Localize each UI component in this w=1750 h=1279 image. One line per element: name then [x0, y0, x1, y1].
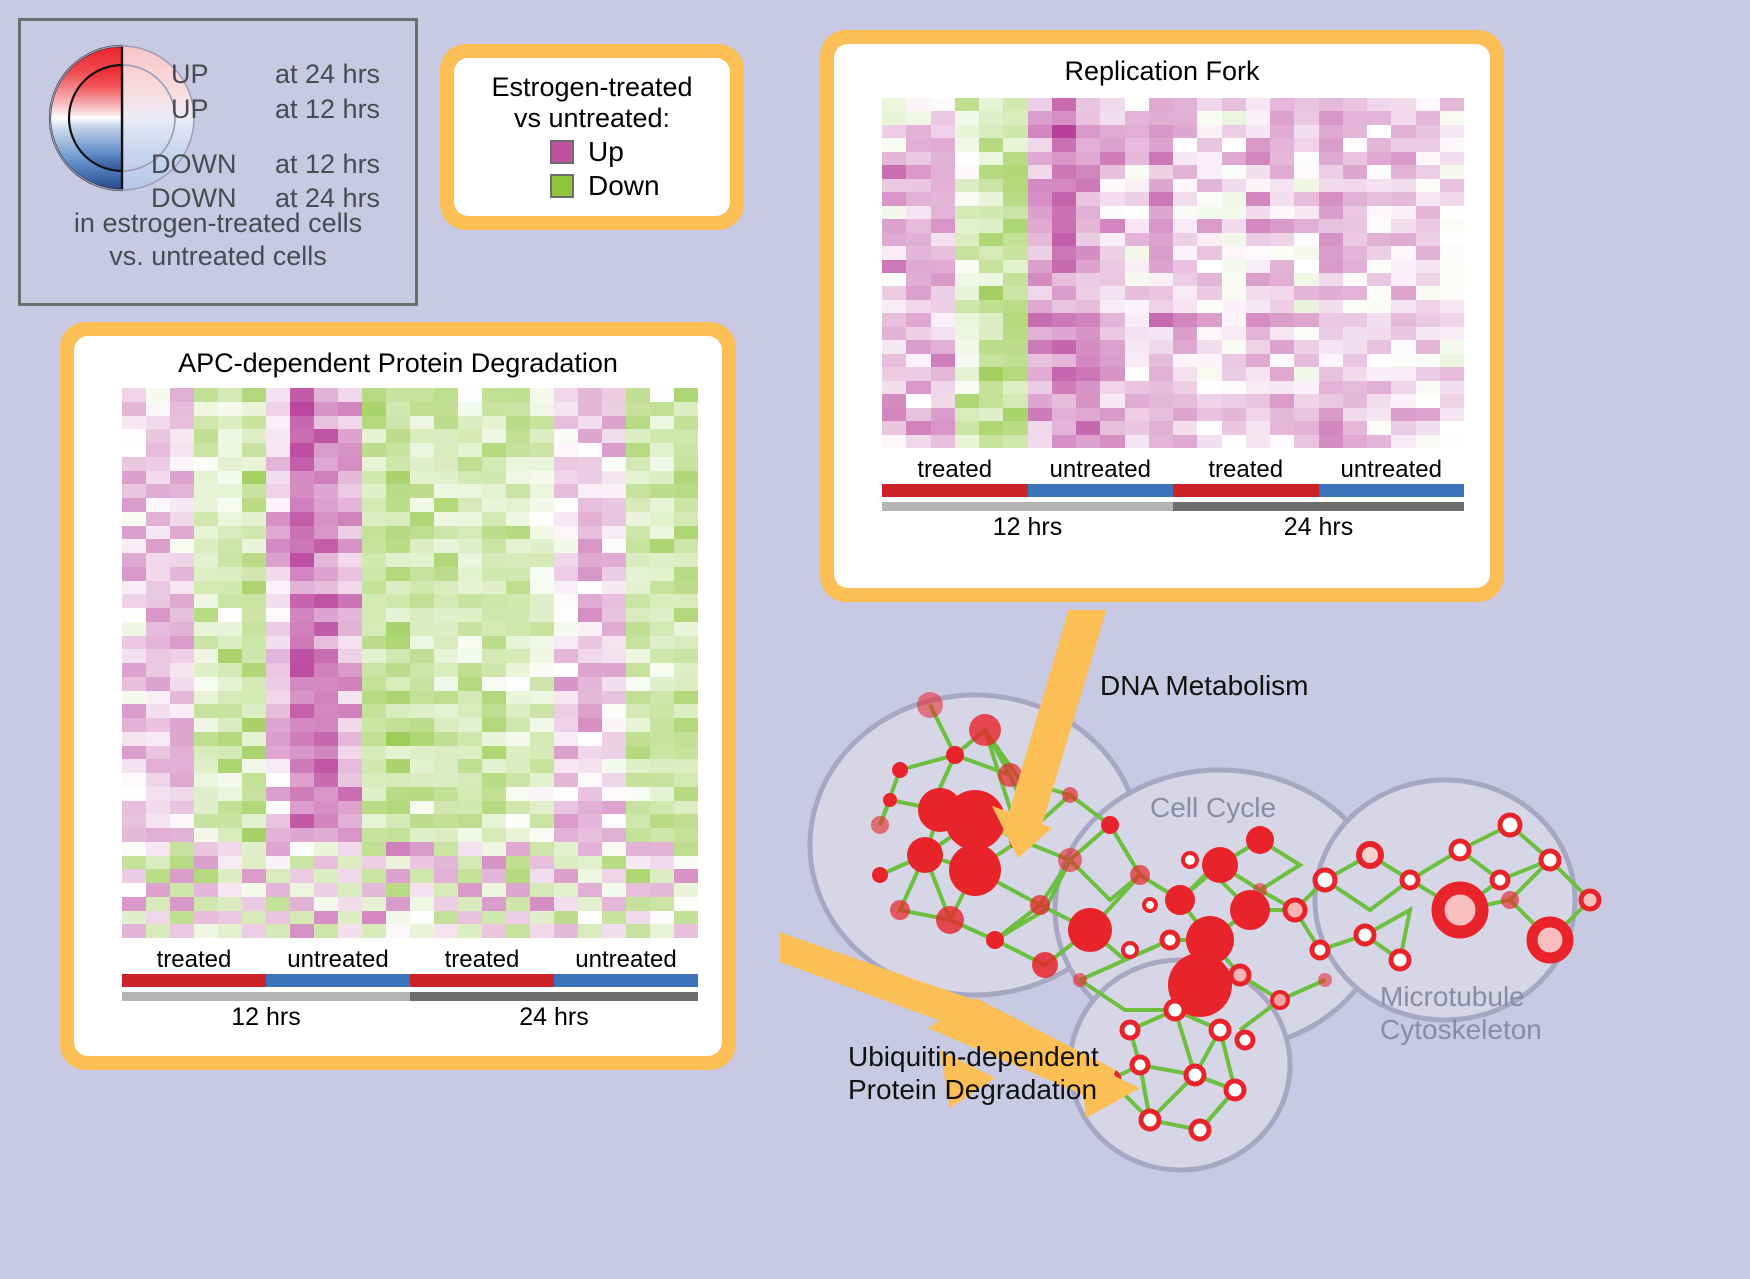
heatmap-cell [290, 801, 314, 815]
heatmap-cell [530, 471, 554, 485]
heatmap-cell [882, 260, 906, 273]
heatmap-cell [290, 924, 314, 938]
heatmap-cell [1003, 260, 1027, 273]
heatmap-cell [1222, 340, 1246, 353]
heatmap-cell [170, 911, 194, 925]
heatmap-cell [194, 718, 218, 732]
heatmap-cell [1197, 381, 1221, 394]
heatmap-cell [906, 354, 930, 367]
heatmap-cell [602, 594, 626, 608]
heatmap-cell [1246, 246, 1270, 259]
heatmap-cell [1076, 354, 1100, 367]
heatmap-cell [1125, 138, 1149, 151]
heatmap-cell [194, 842, 218, 856]
heatmap-cell [650, 429, 674, 443]
heatmap-cell [554, 732, 578, 746]
heatmap-cell [979, 98, 1003, 111]
heatmap-cell [1294, 179, 1318, 192]
heatmap-cell [410, 567, 434, 581]
heatmap-cell [1270, 98, 1294, 111]
heatmap-cell [458, 911, 482, 925]
heatmap-cell [482, 443, 506, 457]
heatmap-cell [1173, 219, 1197, 232]
heatmap-cell [290, 718, 314, 732]
heatmap-cell [194, 732, 218, 746]
heatmap-cell [458, 663, 482, 677]
heatmap-cell [1270, 152, 1294, 165]
heatmap-cell [266, 622, 290, 636]
heatmap-cell [1367, 313, 1391, 326]
heatmap-cell [882, 354, 906, 367]
heatmap-cell [554, 498, 578, 512]
heatmap-cell [1173, 246, 1197, 259]
condition-label: treated [122, 946, 266, 974]
heatmap-cell [170, 718, 194, 732]
heatmap-cell [242, 388, 266, 402]
heatmap-cell [434, 828, 458, 842]
heatmap-cell [386, 704, 410, 718]
heatmap-cell [1173, 394, 1197, 407]
heatmap-cell [882, 340, 906, 353]
heatmap-cell [1343, 300, 1367, 313]
heatmap-cell [482, 484, 506, 498]
heatmap-cell [1440, 394, 1464, 407]
heatmap-cell [1294, 381, 1318, 394]
heatmap-cell [506, 773, 530, 787]
heatmap-cell [554, 814, 578, 828]
heatmap-cell [1052, 125, 1076, 138]
heatmap-cell [482, 512, 506, 526]
heatmap-cell [530, 553, 554, 567]
heatmap-cell [1391, 435, 1415, 448]
heatmap-cell [602, 526, 626, 540]
heatmap-cell [194, 443, 218, 457]
heatmap-cell [1149, 408, 1173, 421]
heatmap-cell [218, 691, 242, 705]
heatmap-cell [434, 429, 458, 443]
heatmap-cell [266, 746, 290, 760]
heatmap-cell [386, 429, 410, 443]
heatmap-cell [218, 443, 242, 457]
heatmap-cell [1052, 381, 1076, 394]
heatmap-cell [1270, 246, 1294, 259]
heatmap-cell [266, 773, 290, 787]
heatmap-cell [530, 787, 554, 801]
heatmap-cell [1391, 260, 1415, 273]
heatmap-cell [506, 897, 530, 911]
heatmap-cell [906, 313, 930, 326]
heatmap-cell [626, 416, 650, 430]
heatmap-cell [1343, 246, 1367, 259]
heatmap-cell [1003, 273, 1027, 286]
heatmap-cell [482, 691, 506, 705]
heatmap-cell [1028, 300, 1052, 313]
heatmap-cell [1076, 300, 1100, 313]
heatmap-cell [1222, 233, 1246, 246]
heatmap-cell [979, 179, 1003, 192]
heatmap-cell [506, 443, 530, 457]
heatmap-cell [554, 691, 578, 705]
heatmap-cell [266, 828, 290, 842]
heatmap-cell [578, 897, 602, 911]
heatmap-cell [1294, 260, 1318, 273]
heatmap-cell [602, 471, 626, 485]
heatmap-cell [1440, 313, 1464, 326]
heatmap-cell [506, 388, 530, 402]
heatmap-cell [1391, 206, 1415, 219]
heatmap-cell [1367, 300, 1391, 313]
heatmap-cell [1100, 394, 1124, 407]
heatmap-cell [290, 814, 314, 828]
heatmap-cell [906, 138, 930, 151]
heatmap-cell [338, 897, 362, 911]
heatmap-cell [1440, 246, 1464, 259]
heatmap-cell [650, 869, 674, 883]
heatmap-cell [931, 125, 955, 138]
heatmap-cell [906, 421, 930, 434]
time-colour-bar [410, 992, 698, 1001]
heatmap-cell [122, 718, 146, 732]
heatmap-cell [482, 801, 506, 815]
heatmap-cell [362, 828, 386, 842]
heatmap-cell [1052, 300, 1076, 313]
heatmap-cell [602, 416, 626, 430]
heatmap-cell [1125, 354, 1149, 367]
heatmap-cell [1440, 206, 1464, 219]
heatmap-cell [1440, 98, 1464, 111]
heatmap-cell [386, 869, 410, 883]
heatmap-cell [674, 897, 698, 911]
heatmap-cell [1100, 192, 1124, 205]
heatmap-cell [434, 636, 458, 650]
heatmap-cell [194, 484, 218, 498]
heatmap-cell [410, 443, 434, 457]
heatmap-cell [1391, 394, 1415, 407]
heatmap-cell [194, 746, 218, 760]
heatmap-cell [530, 897, 554, 911]
heatmap-cell [554, 443, 578, 457]
heatmap-cell [1416, 408, 1440, 421]
heatmap-cell [1416, 435, 1440, 448]
heatmap-cell [1076, 367, 1100, 380]
heatmap-cell [122, 883, 146, 897]
heatmap-cell [1391, 313, 1415, 326]
heatmap-cell [979, 313, 1003, 326]
heatmap-cell [1125, 125, 1149, 138]
heatmap-cell [1052, 367, 1076, 380]
heatmap-cell [482, 581, 506, 595]
heatmap-cell [218, 869, 242, 883]
heatmap-cell [1367, 152, 1391, 165]
heatmap-cell [602, 567, 626, 581]
heatmap-cell [146, 649, 170, 663]
heatmap-cell [1440, 138, 1464, 151]
heatmap-cell [602, 457, 626, 471]
heatmap-cell [1343, 327, 1367, 340]
heatmap-cell [1197, 233, 1221, 246]
heatmap-cell [1222, 435, 1246, 448]
heatmap-cell [218, 512, 242, 526]
heatmap-cell [1125, 98, 1149, 111]
heatmap-cell [1440, 367, 1464, 380]
heatmap-cell [434, 498, 458, 512]
heatmap-cell [1028, 98, 1052, 111]
heatmap-cell [1076, 313, 1100, 326]
heatmap-cell [482, 388, 506, 402]
heatmap-cell [882, 233, 906, 246]
heatmap-cell [458, 567, 482, 581]
heatmap-cell [458, 636, 482, 650]
heatmap-cell [338, 911, 362, 925]
heatmap-cell [434, 787, 458, 801]
heatmap-cell [1343, 313, 1367, 326]
heatmap-cell [1028, 435, 1052, 448]
heatmap-cell [122, 553, 146, 567]
heatmap-cell [1100, 421, 1124, 434]
heatmap-cell [1003, 98, 1027, 111]
heatmap-cell [458, 443, 482, 457]
heatmap-cell [1343, 381, 1367, 394]
heatmap-cell [1149, 152, 1173, 165]
heatmap-cell [578, 883, 602, 897]
heatmap-cell [194, 498, 218, 512]
heatmap-cell [386, 759, 410, 773]
heatmap-cell [506, 759, 530, 773]
heatmap-cell [530, 622, 554, 636]
heatmap-cell [674, 801, 698, 815]
wheel-row-2: DOWNat 12 hrs [151, 149, 380, 180]
heatmap-cell [530, 663, 554, 677]
heatmap-cell [1125, 381, 1149, 394]
heatmap-cell [410, 677, 434, 691]
heatmap-cell [314, 897, 338, 911]
replication-fork-time-labels: 12 hrs24 hrs [882, 513, 1464, 542]
heatmap-cell [122, 828, 146, 842]
heatmap-cell [650, 787, 674, 801]
heatmap-cell [1100, 246, 1124, 259]
heatmap-cell [290, 608, 314, 622]
heatmap-cell [338, 814, 362, 828]
heatmap-cell [386, 856, 410, 870]
heatmap-cell [1125, 408, 1149, 421]
heatmap-cell [1003, 394, 1027, 407]
heatmap-cell [266, 883, 290, 897]
heatmap-cell [1319, 125, 1343, 138]
heatmap-cell [1391, 354, 1415, 367]
heatmap-cell [434, 594, 458, 608]
heatmap-cell [362, 856, 386, 870]
heatmap-cell [242, 924, 266, 938]
heatmap-cell [1294, 111, 1318, 124]
heatmap-cell [1294, 192, 1318, 205]
heatmap-cell [434, 649, 458, 663]
heatmap-cell [386, 883, 410, 897]
heatmap-cell [955, 125, 979, 138]
heatmap-cell [146, 732, 170, 746]
heatmap-cell [122, 526, 146, 540]
heatmap-cell [170, 814, 194, 828]
heatmap-cell [1003, 206, 1027, 219]
heatmap-cell [410, 897, 434, 911]
heatmap-cell [1416, 138, 1440, 151]
heatmap-cell [194, 416, 218, 430]
heatmap-cell [218, 498, 242, 512]
heatmap-cell [1294, 286, 1318, 299]
heatmap-cell [530, 814, 554, 828]
heatmap-cell [482, 663, 506, 677]
heatmap-cell [530, 677, 554, 691]
heatmap-cell [1149, 165, 1173, 178]
heatmap-cell [122, 512, 146, 526]
heatmap-cell [386, 498, 410, 512]
condition-label: untreated [266, 946, 410, 974]
time-label: 12 hrs [122, 1003, 410, 1032]
network-svg [780, 610, 1740, 1270]
heatmap-cell [1294, 152, 1318, 165]
heatmap-cell [578, 388, 602, 402]
heatmap-cell [1149, 179, 1173, 192]
heatmap-cell [218, 526, 242, 540]
heatmap-cell [242, 869, 266, 883]
heatmap-cell [290, 594, 314, 608]
heatmap-cell [266, 759, 290, 773]
condition-colour-bar [554, 974, 698, 987]
heatmap-cell [674, 388, 698, 402]
heatmap-cell [410, 553, 434, 567]
heatmap-cell [906, 327, 930, 340]
heatmap-cell [386, 911, 410, 925]
heatmap-cell [626, 649, 650, 663]
heatmap-cell [458, 498, 482, 512]
heatmap-cell [338, 429, 362, 443]
heatmap-cell [674, 718, 698, 732]
heatmap-cell [602, 732, 626, 746]
heatmap-cell [1367, 206, 1391, 219]
heatmap-cell [170, 471, 194, 485]
heatmap-cell [1125, 300, 1149, 313]
heatmap-cell [906, 367, 930, 380]
heatmap-cell [1173, 260, 1197, 273]
heatmap-cell [955, 98, 979, 111]
heatmap-cell [290, 897, 314, 911]
heatmap-cell [506, 402, 530, 416]
heatmap-cell [650, 911, 674, 925]
heatmap-cell [458, 897, 482, 911]
heatmap-cell [506, 649, 530, 663]
heatmap-cell [674, 416, 698, 430]
heatmap-cell [410, 787, 434, 801]
heatmap-cell [1173, 233, 1197, 246]
heatmap-cell [1003, 367, 1027, 380]
heatmap-cell [1294, 340, 1318, 353]
heatmap-cell [554, 581, 578, 595]
heatmap-cell [1222, 179, 1246, 192]
heatmap-cell [1222, 152, 1246, 165]
heatmap-cell [1125, 435, 1149, 448]
heatmap-cell [506, 856, 530, 870]
condition-label: treated [1173, 456, 1319, 484]
heatmap-cell [578, 814, 602, 828]
heatmap-cell [674, 677, 698, 691]
heatmap-cell [410, 649, 434, 663]
heatmap-cell [554, 704, 578, 718]
heatmap-cell [1222, 111, 1246, 124]
heatmap-cell [882, 219, 906, 232]
heatmap-cell [242, 842, 266, 856]
heatmap-cell [1367, 367, 1391, 380]
heatmap-cell [218, 581, 242, 595]
heatmap-cell [674, 704, 698, 718]
heatmap-cell [906, 98, 930, 111]
heatmap-cell [434, 567, 458, 581]
heatmap-cell [314, 787, 338, 801]
heatmap-cell [1076, 435, 1100, 448]
heatmap-cell [602, 581, 626, 595]
heatmap-cell [530, 443, 554, 457]
heatmap-cell [554, 622, 578, 636]
heatmap-cell [266, 443, 290, 457]
heatmap-cell [578, 924, 602, 938]
heatmap-cell [410, 539, 434, 553]
heatmap-cell [1294, 246, 1318, 259]
heatmap-cell [1319, 354, 1343, 367]
heatmap-cell [218, 718, 242, 732]
heatmap-cell [410, 581, 434, 595]
heatmap-cell [482, 814, 506, 828]
heatmap-cell [1100, 260, 1124, 273]
heatmap-cell [410, 416, 434, 430]
heatmap-cell [434, 704, 458, 718]
heatmap-cell [122, 801, 146, 815]
heatmap-cell [602, 787, 626, 801]
heatmap-cell [290, 553, 314, 567]
heatmap-cell [1173, 408, 1197, 421]
heatmap-cell [1246, 273, 1270, 286]
heatmap-cell [626, 567, 650, 581]
heatmap-cell [578, 526, 602, 540]
heatmap-cell [530, 594, 554, 608]
heatmap-cell [626, 677, 650, 691]
heatmap-cell [1173, 165, 1197, 178]
heatmap-cell [650, 883, 674, 897]
heatmap-cell [1294, 98, 1318, 111]
heatmap-cell [530, 856, 554, 870]
apc-condition-labels: treateduntreatedtreateduntreated [122, 946, 698, 974]
heatmap-cell [602, 691, 626, 705]
heatmap-cell [434, 388, 458, 402]
heatmap-cell [122, 484, 146, 498]
heatmap-cell [338, 787, 362, 801]
heatmap-cell [1246, 111, 1270, 124]
heatmap-cell [242, 539, 266, 553]
heatmap-cell [314, 594, 338, 608]
heatmap-cell [1149, 219, 1173, 232]
heatmap-cell [1125, 367, 1149, 380]
heatmap-cell [554, 801, 578, 815]
heatmap-cell [314, 484, 338, 498]
heatmap-cell [170, 759, 194, 773]
heatmap-cell [955, 233, 979, 246]
heatmap-cell [650, 622, 674, 636]
heatmap-cell [290, 663, 314, 677]
heatmap-cell [1125, 152, 1149, 165]
heatmap-cell [1222, 98, 1246, 111]
heatmap-cell [1246, 98, 1270, 111]
heatmap-cell [338, 801, 362, 815]
heatmap-cell [1028, 206, 1052, 219]
heatmap-cell [602, 622, 626, 636]
heatmap-cell [602, 924, 626, 938]
